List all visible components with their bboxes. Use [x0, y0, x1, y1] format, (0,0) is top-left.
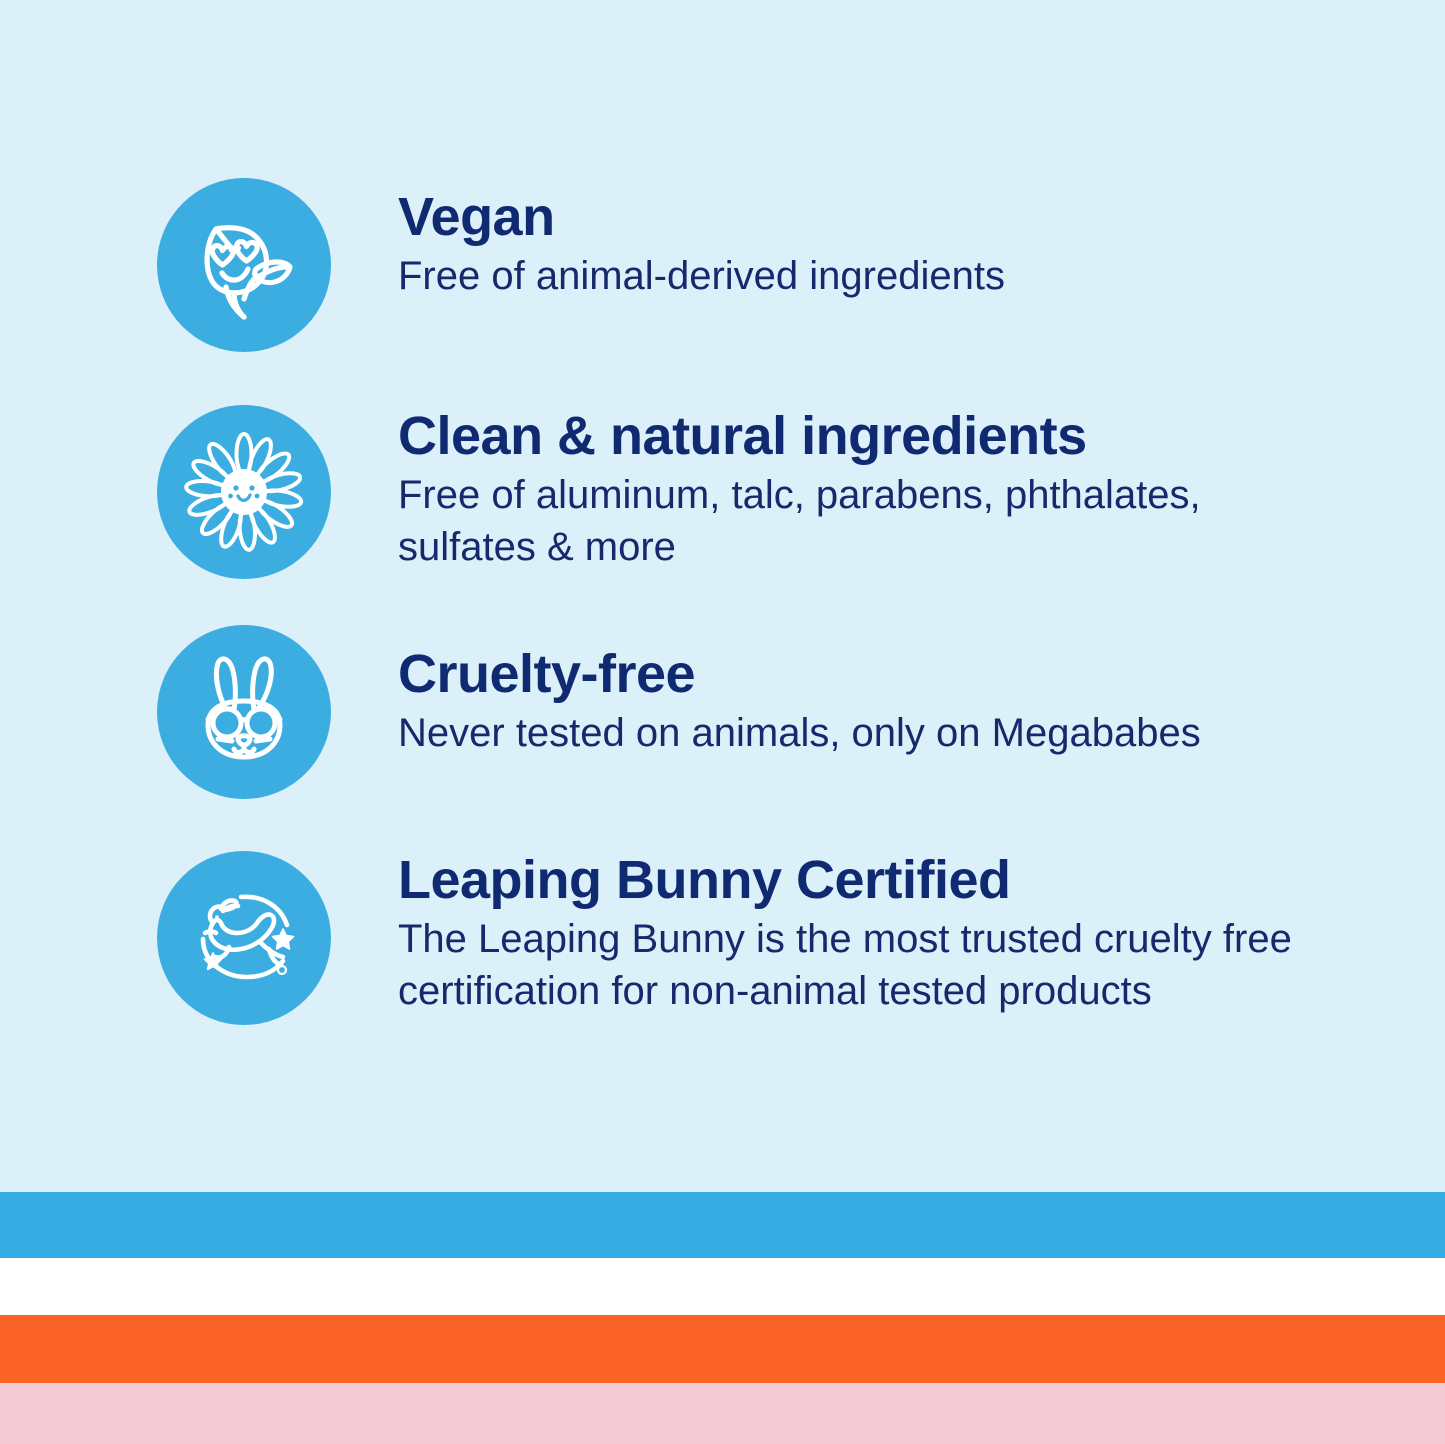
feature-item-cruelty-free: Cruelty-free Never tested on animals, on… [157, 625, 1201, 799]
cruelty-free-icon-badge [157, 625, 331, 799]
vegan-icon-badge [157, 178, 331, 352]
feature-item-vegan: Vegan Free of animal-derived ingredients [157, 178, 1005, 352]
feature-text-block: Vegan Free of animal-derived ingredients [398, 178, 1005, 302]
feature-title: Clean & natural ingredients [398, 409, 1348, 463]
feature-description: Never tested on animals, only on Megabab… [398, 707, 1201, 759]
leaping-bunny-icon-badge [157, 851, 331, 1025]
white-stripe [0, 1258, 1445, 1315]
feature-description: The Leaping Bunny is the most trusted cr… [398, 913, 1348, 1017]
pink-stripe [0, 1383, 1445, 1444]
leaping-bunny-logo-icon [183, 877, 305, 999]
feature-title: Vegan [398, 190, 1005, 244]
orange-stripe [0, 1315, 1445, 1383]
feature-text-block: Clean & natural ingredients Free of alum… [398, 405, 1348, 573]
clean-ingredients-icon-badge [157, 405, 331, 579]
flower-bud-face-with-heart-sunglasses-icon [186, 207, 302, 323]
feature-description: Free of aluminum, talc, parabens, phthal… [398, 469, 1348, 573]
feature-text-block: Leaping Bunny Certified The Leaping Bunn… [398, 851, 1348, 1017]
feature-item-leaping-bunny-certified: Leaping Bunny Certified The Leaping Bunn… [157, 851, 1348, 1025]
bunny-face-with-sunglasses-icon [188, 653, 300, 771]
feature-title: Leaping Bunny Certified [398, 853, 1348, 907]
feature-text-block: Cruelty-free Never tested on animals, on… [398, 625, 1201, 759]
feature-title: Cruelty-free [398, 647, 1201, 701]
smiling-daisy-flower-icon [184, 432, 304, 552]
blue-stripe [0, 1192, 1445, 1258]
feature-description: Free of animal-derived ingredients [398, 250, 1005, 302]
product-benefits-infographic: Vegan Free of animal-derived ingredients [0, 0, 1445, 1444]
feature-item-clean-natural-ingredients: Clean & natural ingredients Free of alum… [157, 405, 1348, 579]
